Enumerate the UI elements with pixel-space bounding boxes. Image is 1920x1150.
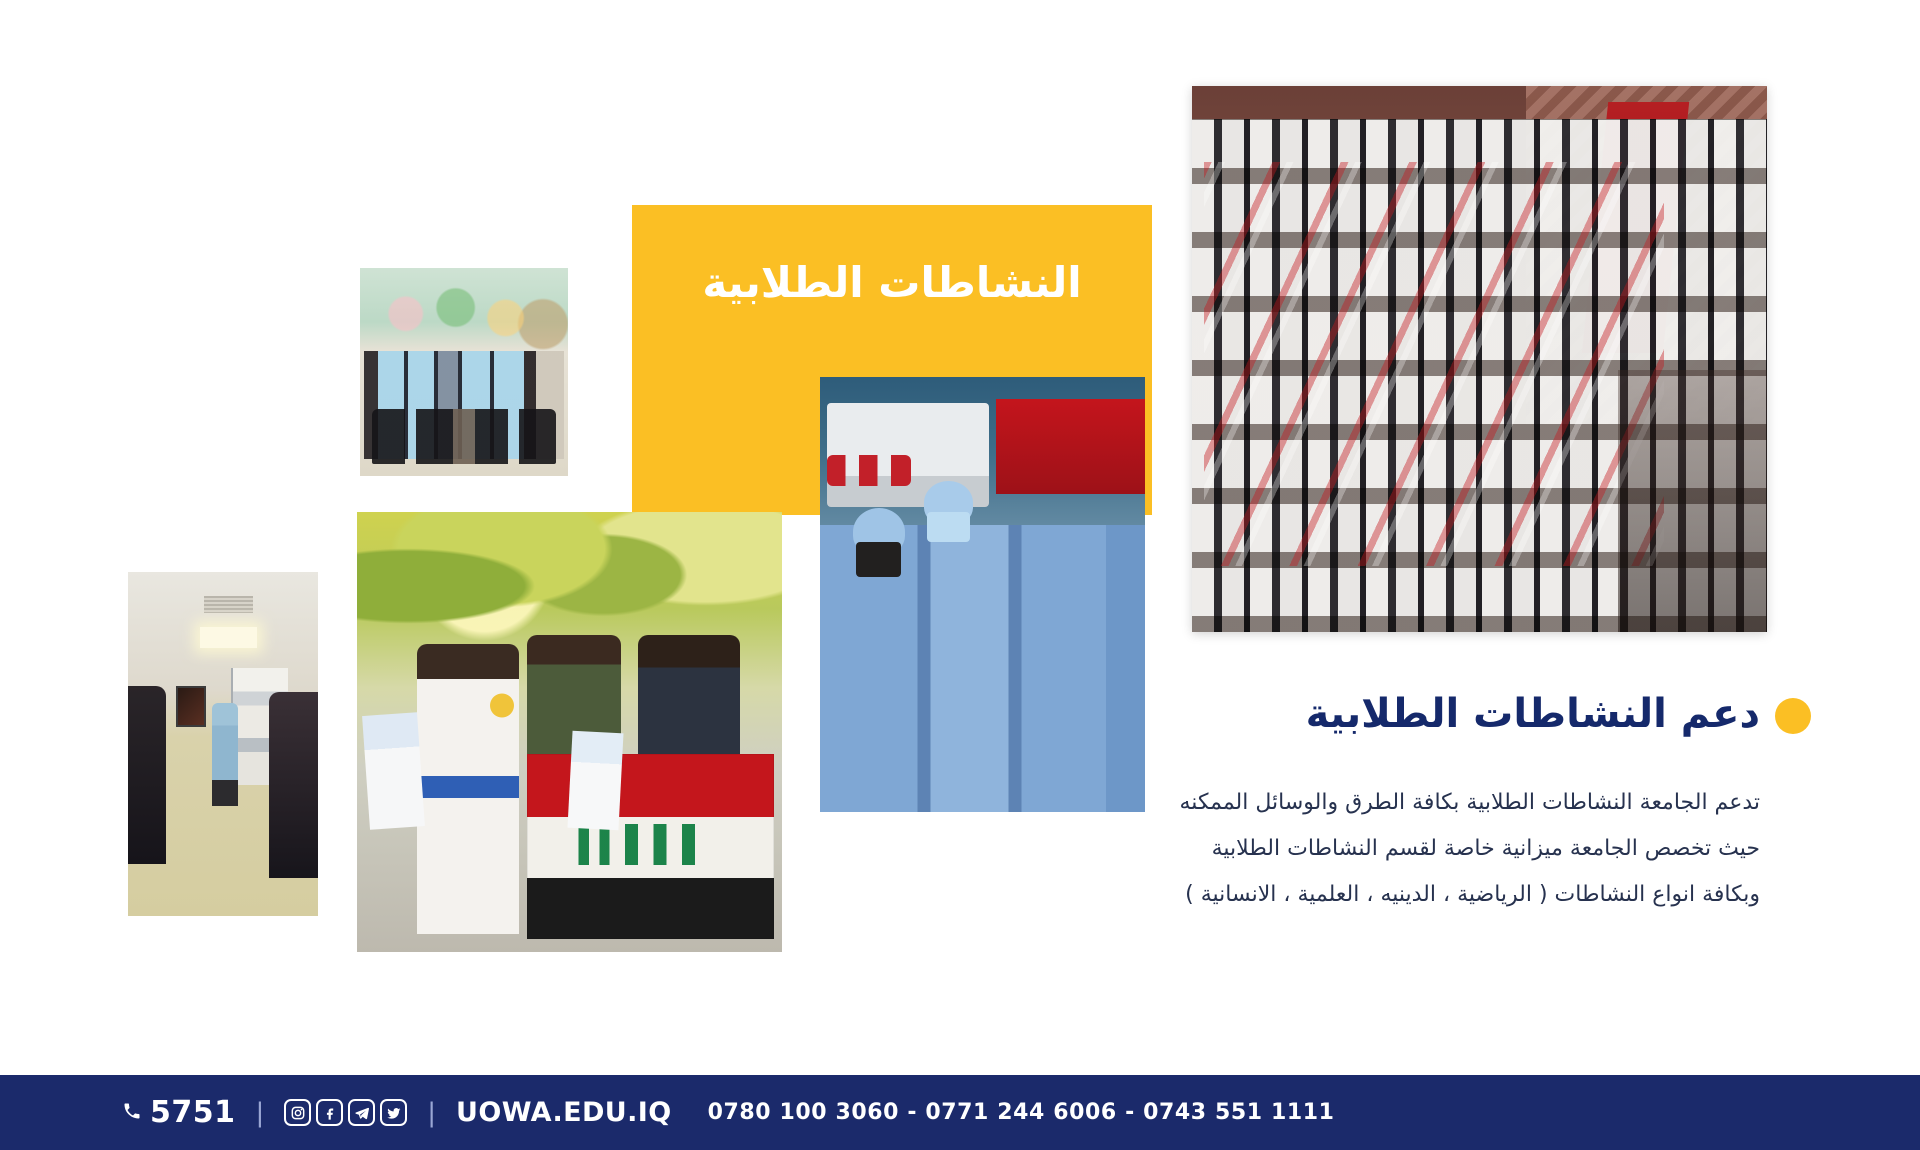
facebook-icon[interactable] [316, 1099, 343, 1126]
medical-staff-figure [212, 703, 239, 806]
social-links [284, 1099, 407, 1126]
bullet-dot-icon [1775, 698, 1811, 734]
footer-phone-shortcode[interactable]: 5751 [122, 1095, 236, 1130]
iraqi-hand-flags [1204, 162, 1664, 566]
photo-karate-medalists [357, 512, 782, 952]
slide-canvas: النشاطات الطلابية [0, 0, 1920, 1150]
certificate-right [567, 731, 623, 830]
ceiling-light [200, 627, 257, 648]
student-group-right [269, 692, 318, 878]
crowd-shadow-right [1618, 370, 1768, 632]
photo-hospital-endoscopy-visit [128, 572, 318, 916]
photo-children-ward-volunteers [360, 268, 568, 476]
ward-donation-bags [372, 409, 555, 463]
endoscopy-monitor [176, 686, 206, 727]
section-heading: دعم النشاطات الطلابية [1180, 678, 1760, 750]
website-link[interactable]: UOWA.EDU.IQ [456, 1097, 672, 1128]
photo-student-crowd-shrine [1192, 86, 1767, 632]
iraqi-flag [527, 754, 774, 939]
section-paragraph: تدعم الجامعة النشاطات الطلابية بكافة الط… [1160, 780, 1760, 918]
gold-medal [485, 688, 519, 723]
blue-face-mask [927, 512, 969, 542]
red-cap-volunteers [827, 455, 912, 485]
telegram-icon[interactable] [348, 1099, 375, 1126]
page-title: النشاطات الطلابية [632, 248, 1152, 318]
blue-belt [417, 776, 519, 798]
ceiling-vent [204, 596, 253, 613]
footer-divider-1: | [256, 1098, 265, 1128]
twitter-icon[interactable] [380, 1099, 407, 1126]
footer-divider-2: | [427, 1098, 436, 1128]
instagram-icon[interactable] [284, 1099, 311, 1126]
certificate-left [362, 713, 425, 831]
footer-phone-numbers[interactable]: 0780 100 3060 - 0771 244 6006 - 0743 551… [708, 1100, 1335, 1125]
phone-icon [122, 1100, 144, 1126]
health-campaign-banner [996, 399, 1146, 495]
phone-shortcode-label: 5751 [150, 1095, 236, 1130]
photo-medical-campaign-tent [820, 377, 1145, 812]
student-group-left [128, 686, 166, 865]
black-face-mask [856, 542, 902, 577]
footer-bar: 5751 | [0, 1075, 1920, 1150]
